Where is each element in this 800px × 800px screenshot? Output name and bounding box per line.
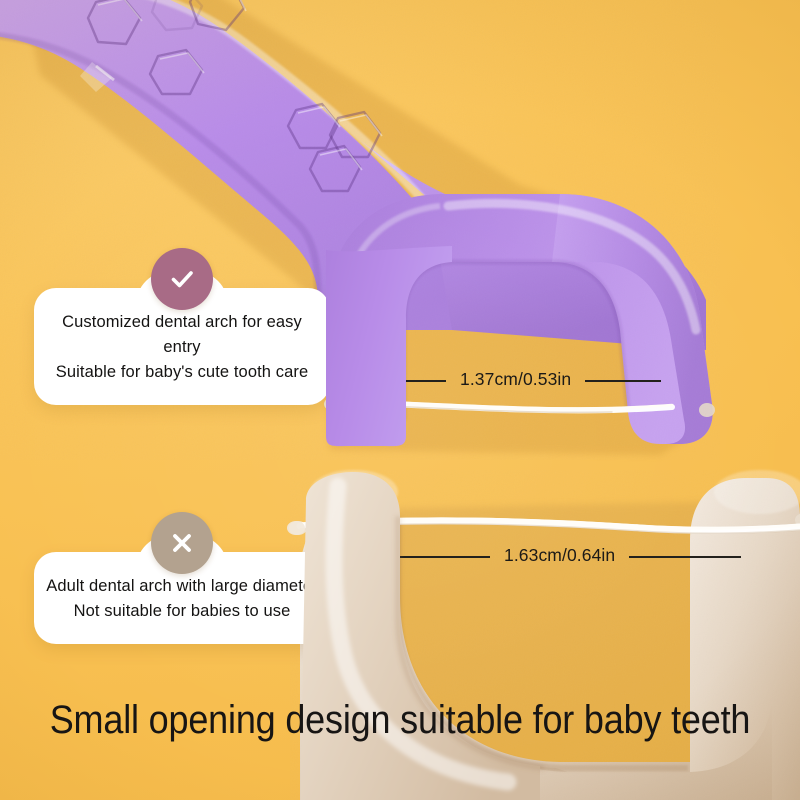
- measure-rule-right: [629, 556, 741, 558]
- measurement-cream-arch: 1.63cm/0.64in: [385, 548, 741, 566]
- callout-card-negative: Adult dental arch with large diameter No…: [34, 552, 330, 644]
- callout-line-2: Suitable for baby's cute tooth care: [46, 360, 318, 385]
- check-circle-icon: [151, 248, 213, 310]
- measure-label-purple: 1.37cm/0.53in: [446, 371, 585, 389]
- x-circle-icon: [151, 512, 213, 574]
- callout-line-2: Not suitable for babies to use: [46, 599, 318, 624]
- callout-card-positive: Customized dental arch for easy entry Su…: [34, 288, 330, 405]
- callout-line-1: Adult dental arch with large diameter: [46, 574, 318, 599]
- product-marketing-image: 1.37cm/0.53in 1.63cm/0.64in Customized d…: [0, 0, 800, 800]
- measure-rule-left: [380, 380, 446, 382]
- callout-line-1: Customized dental arch for easy entry: [46, 310, 318, 360]
- measurement-purple-arch: 1.37cm/0.53in: [380, 372, 661, 390]
- measure-rule-left: [385, 556, 490, 558]
- page-headline: Small opening design suitable for baby t…: [40, 700, 760, 740]
- measure-rule-right: [585, 380, 661, 382]
- measure-label-cream: 1.63cm/0.64in: [490, 547, 629, 565]
